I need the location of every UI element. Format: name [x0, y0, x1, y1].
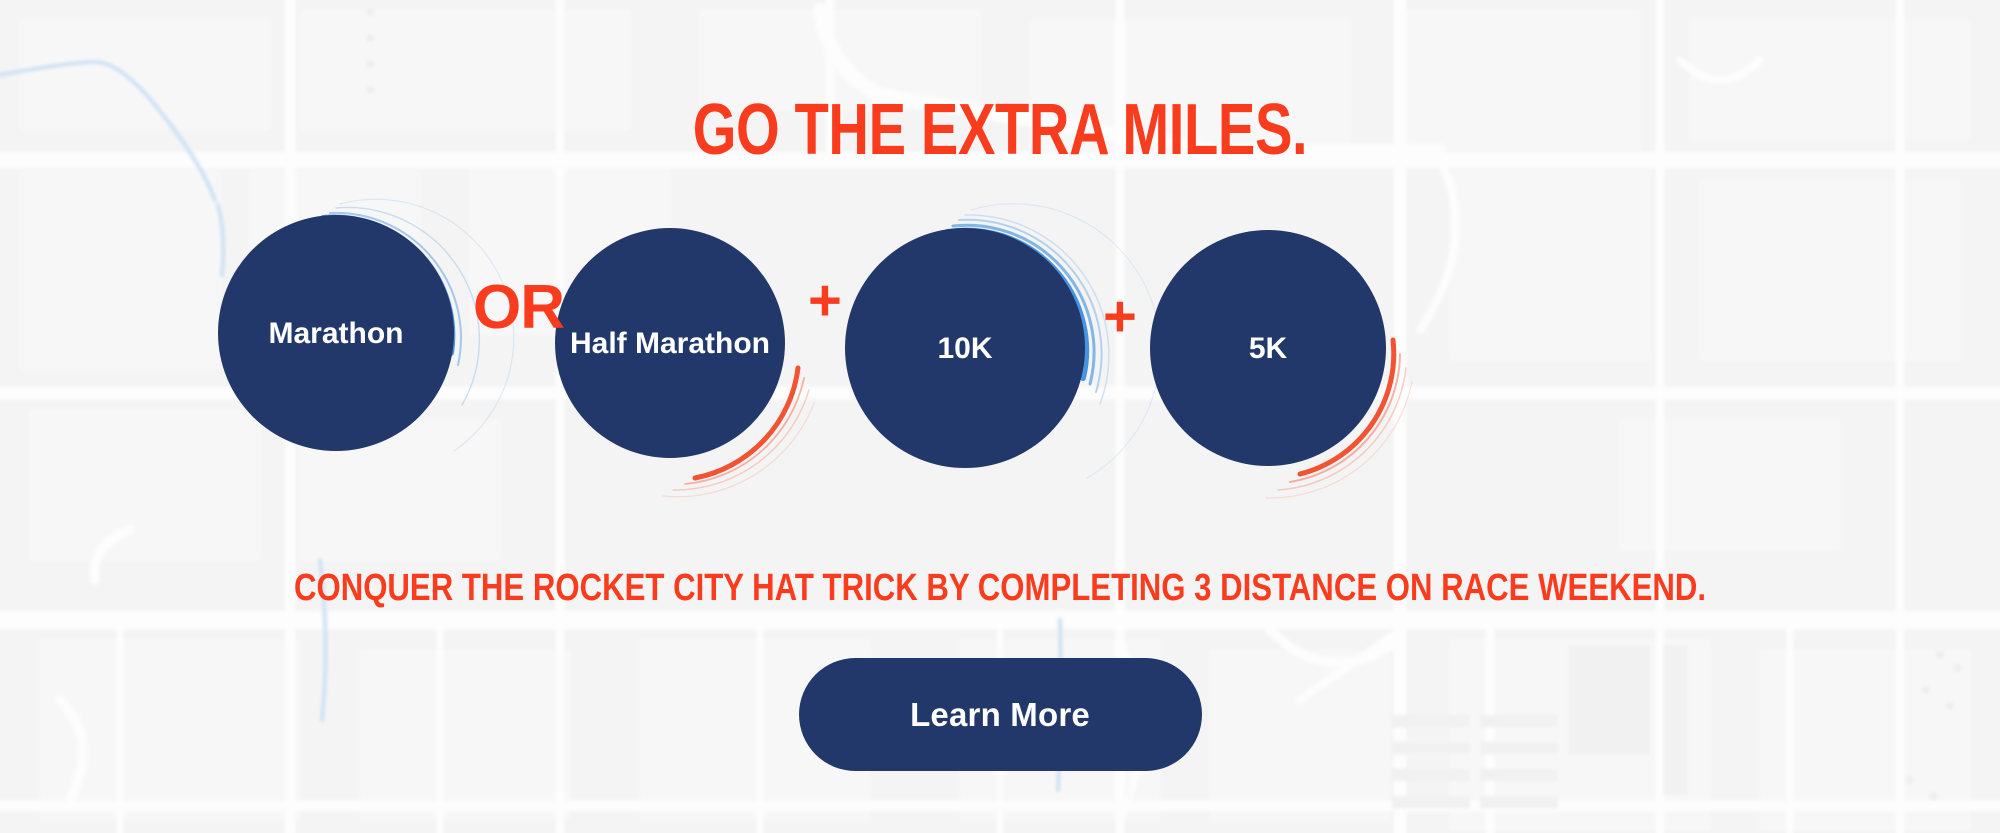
cta-container: Learn More	[0, 658, 2000, 771]
option-5k[interactable]: 5K	[1150, 230, 1386, 466]
marathon-circle[interactable]: Marathon	[218, 215, 454, 451]
option-10k[interactable]: 10K	[845, 228, 1085, 468]
tenk-circle[interactable]: 10K	[845, 228, 1085, 468]
distance-options: Marathon Half Marathon	[0, 0, 2000, 600]
fivek-circle[interactable]: 5K	[1150, 230, 1386, 466]
connector-plus-2: +	[1103, 288, 1137, 346]
marathon-label: Marathon	[269, 317, 404, 350]
option-half-marathon[interactable]: Half Marathon	[555, 228, 785, 458]
connector-plus-1: +	[808, 272, 842, 330]
promo-banner: GO THE EXTRA MILES. Marathon	[0, 0, 2000, 833]
subtitle: CONQUER THE ROCKET CITY HAT TRICK BY COM…	[180, 567, 1820, 609]
half-marathon-circle[interactable]: Half Marathon	[555, 228, 785, 458]
half-marathon-label: Half Marathon	[570, 327, 770, 360]
fivek-label: 5K	[1249, 332, 1287, 365]
option-marathon[interactable]: Marathon	[218, 215, 454, 451]
tenk-label: 10K	[937, 332, 992, 365]
learn-more-button[interactable]: Learn More	[799, 658, 1202, 771]
connector-or: OR	[473, 277, 564, 339]
